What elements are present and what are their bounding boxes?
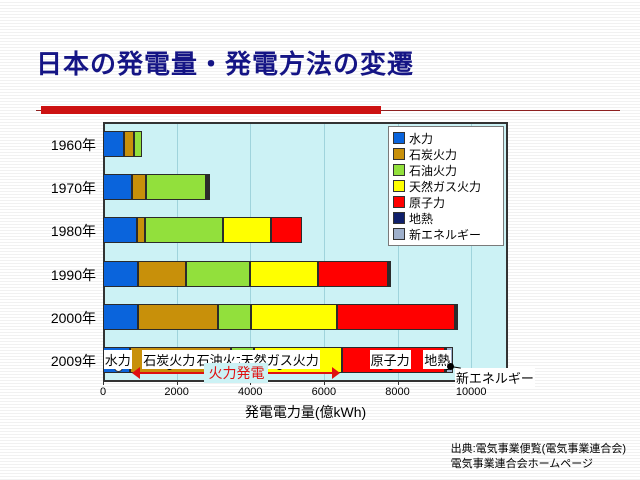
x-tick-mark [324, 380, 325, 385]
bar-segment [134, 131, 142, 157]
legend-item-5: 地熱 [393, 210, 499, 226]
page-title: 日本の発電量・発電方法の変遷 [36, 44, 414, 81]
legend-label: 石油火力 [409, 162, 457, 179]
bar-segment [146, 174, 206, 200]
bar-segment [251, 304, 338, 330]
legend-label: 天然ガス火力 [409, 178, 481, 195]
legend-swatch-icon [393, 180, 405, 192]
callout-label: 原子力 [370, 350, 411, 369]
legend-label: 石炭火力 [409, 146, 457, 163]
bar-segment [103, 217, 137, 243]
callout-label: 新エネルギー [455, 368, 535, 387]
bar-segment [124, 131, 134, 157]
x-tick-label: 2000 [164, 386, 188, 398]
x-tick-label: 0 [100, 386, 106, 398]
x-tick-label: 10000 [456, 386, 487, 398]
legend-swatch-icon [393, 228, 405, 240]
bar-segment [337, 304, 455, 330]
bar-segment [145, 217, 223, 243]
source-line-2: 電気事業連合会ホームページ [451, 457, 626, 472]
bar-segment [138, 261, 186, 287]
y-axis-label: 1970年 [8, 178, 96, 198]
title-rule-thick [41, 106, 381, 114]
bar-segment [208, 174, 210, 200]
legend-label: 地熱 [409, 210, 433, 227]
legend-item-3: 天然ガス火力 [393, 178, 499, 194]
x-axis-title: 発電電力量(億kWh) [103, 402, 508, 422]
x-tick-label: 8000 [385, 386, 409, 398]
legend-swatch-icon [393, 148, 405, 160]
bar-segment [103, 131, 124, 157]
legend-swatch-icon [393, 196, 405, 208]
bar-segment [318, 261, 388, 287]
bar-segment [103, 304, 138, 330]
legend-label: 水力 [409, 130, 433, 147]
source-note: 出典:電気事業便覧(電気事業連合会) 電気事業連合会ホームページ [451, 442, 626, 472]
gridline [250, 124, 251, 380]
legend-item-1: 石炭火力 [393, 146, 499, 162]
x-tick-mark [103, 380, 104, 385]
y-axis-label: 2000年 [8, 308, 96, 328]
bar-segment [389, 261, 391, 287]
bracket-arrow-left-icon [132, 367, 140, 379]
x-tick-label: 6000 [312, 386, 336, 398]
legend-label: 新エネルギー [409, 226, 481, 243]
chart-container: 1960年1970年1980年1990年2000年2009年 020004000… [8, 122, 632, 422]
bar-segment [138, 304, 217, 330]
bracket-arrow-right-icon [332, 367, 340, 379]
legend-swatch-icon [393, 212, 405, 224]
bar-segment [271, 217, 302, 243]
y-axis-label: 1960年 [8, 135, 96, 155]
x-tick-mark [177, 380, 178, 385]
bar-segment [250, 261, 318, 287]
bar-segment [137, 217, 145, 243]
chart-legend: 水力石炭火力石油火力天然ガス火力原子力地熱新エネルギー [388, 126, 504, 246]
legend-swatch-icon [393, 164, 405, 176]
legend-item-0: 水力 [393, 130, 499, 146]
legend-item-4: 原子力 [393, 194, 499, 210]
legend-label: 原子力 [409, 194, 445, 211]
source-line-1: 出典:電気事業便覧(電気事業連合会) [451, 442, 626, 457]
bracket-label: 火力発電 [204, 363, 268, 383]
legend-item-2: 石油火力 [393, 162, 499, 178]
legend-item-6: 新エネルギー [393, 226, 499, 242]
y-axis-label: 1990年 [8, 265, 96, 285]
x-tick-mark [398, 380, 399, 385]
y-axis-label: 2009年 [8, 351, 96, 371]
bar-segment [103, 261, 138, 287]
callout-label: 水力 [104, 350, 132, 369]
gridline [324, 124, 325, 380]
bar-segment [456, 304, 458, 330]
y-axis-label: 1980年 [8, 221, 96, 241]
thermal-power-bracket: 火力発電 [132, 366, 340, 380]
bar-segment [223, 217, 271, 243]
bar-segment [103, 174, 132, 200]
x-tick-label: 4000 [238, 386, 262, 398]
bar-segment [132, 174, 146, 200]
bar-segment [218, 304, 251, 330]
bar-segment [186, 261, 250, 287]
gridline [177, 124, 178, 380]
legend-swatch-icon [393, 132, 405, 144]
